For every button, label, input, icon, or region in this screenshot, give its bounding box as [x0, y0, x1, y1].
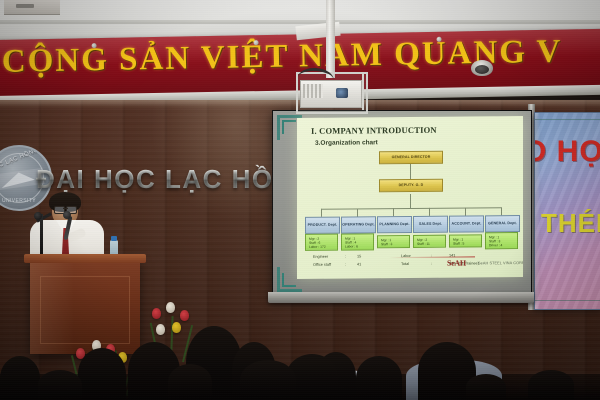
banner-bolt: [92, 43, 97, 48]
projector-pole: [326, 0, 335, 78]
screen-bottom-casing: [268, 292, 534, 303]
stat-sep: :: [345, 255, 346, 259]
org-box-department: PLANNING Dept.: [377, 216, 412, 233]
ceiling-vent: [4, 0, 60, 15]
banner-rule-top: [535, 119, 600, 120]
org-connector: [501, 207, 502, 215]
dome-camera-icon: [471, 60, 493, 76]
org-box-department: OPERATING Dept.: [341, 216, 376, 233]
audience-member-head: [168, 364, 212, 400]
glasses-bridge: [63, 208, 68, 209]
seah-logo-subtitle: SeAH STEEL VINA CORP., ltd: [478, 261, 523, 265]
projector-lens: [336, 88, 348, 98]
audience-member-head: [356, 356, 402, 400]
seal-text-bottom: UNIVERSITY: [0, 198, 44, 204]
audience-member-head: [38, 370, 82, 400]
screen-corner-bracket-inner: [282, 120, 296, 134]
slide-title: I. COMPANY INTRODUCTION: [311, 125, 437, 136]
water-bottle-cap: [111, 236, 117, 241]
org-box-deputy-gd: DEPUTY. G. D: [379, 179, 443, 193]
org-staffing-box: Mgr : 1 Staff : 3 Driver : 4: [485, 232, 518, 249]
stat-value: 15: [357, 254, 361, 258]
audience-member-head: [240, 360, 296, 400]
org-box-general-director: GENERAL DIRECTOR: [379, 151, 443, 165]
slide-subtitle: 3.Organization chart: [315, 139, 378, 147]
ceiling-trim: [0, 20, 600, 24]
right-banner-yellow-text: THÉP: [541, 208, 600, 239]
staff-line: Driver : 4: [489, 243, 514, 247]
microphone-icon: [63, 211, 71, 219]
org-connector: [393, 208, 394, 216]
org-connector-bus: [321, 207, 501, 210]
org-staffing-box: Mgr : 1 Staff : 4 Labor : 6: [341, 233, 374, 250]
stat-sep: :: [345, 263, 346, 267]
screen-corner-bracket-inner: [282, 273, 296, 287]
banner-bolt: [254, 40, 259, 45]
staff-line: Labor : 6: [345, 244, 370, 248]
seah-logo: SeAH: [447, 259, 466, 268]
org-box-department: PRODUCT. Dept.: [305, 217, 340, 234]
org-staffing-box: Mgr : 2 Staff : 6 Labor : 172: [305, 234, 338, 251]
org-connector: [357, 208, 358, 216]
staff-line: Staff : 3: [381, 242, 406, 246]
podium-top-surface: [24, 254, 146, 263]
banner-bolt: [436, 37, 441, 42]
org-staffing-box: Mgr : 1 Staff : 5: [449, 234, 482, 247]
stat-label: Total: [401, 262, 409, 266]
flower-bloom-yellow: [172, 322, 181, 333]
projection-screen: I. COMPANY INTRODUCTION 3.Organization c…: [272, 110, 532, 297]
projector-vent: [303, 84, 323, 98]
audience-member-head: [466, 374, 506, 400]
stat-sep: :: [431, 262, 432, 266]
org-staffing-box: Mgr : 1 Staff : 3: [377, 235, 410, 248]
stat-label: Office staff: [313, 263, 331, 267]
org-connector: [410, 194, 411, 208]
flower-bloom-red: [180, 310, 189, 321]
projected-slide: I. COMPANY INTRODUCTION 3.Organization c…: [297, 116, 523, 279]
banner-rule-bottom: [535, 300, 600, 301]
right-event-banner: O HỌC THÉP: [534, 112, 600, 310]
org-box-department: ACCOUNT. Dept.: [449, 215, 484, 232]
cage-bar: [362, 72, 364, 110]
staff-line: Staff : 11: [417, 242, 442, 246]
mic-stand: [40, 214, 43, 258]
org-connector: [429, 208, 430, 216]
org-connector: [465, 208, 466, 216]
org-connector: [321, 209, 322, 217]
org-box-department: GENERAL Dept.: [485, 215, 520, 232]
org-box-department: SALES Dept.: [413, 216, 448, 233]
stat-label: Engineer: [313, 255, 328, 259]
staff-line: Staff : 5: [453, 241, 478, 245]
presentation-hall-photo: CỘNG SẢN VIỆT NAM QUANG V C LẠC HỒNG UNI…: [0, 0, 600, 400]
audience-member-head: [0, 356, 40, 400]
flower-bloom-white: [166, 302, 175, 313]
audience-member-head: [78, 348, 126, 400]
org-staffing-box: Mgr : 2 Staff : 11: [413, 235, 446, 248]
mic-stand-head-icon: [34, 212, 42, 220]
audience-member-head: [528, 370, 574, 400]
right-banner-red-text: O HỌC: [534, 135, 600, 169]
staff-line: Labor : 172: [309, 245, 334, 249]
stat-value: 41: [357, 262, 361, 266]
